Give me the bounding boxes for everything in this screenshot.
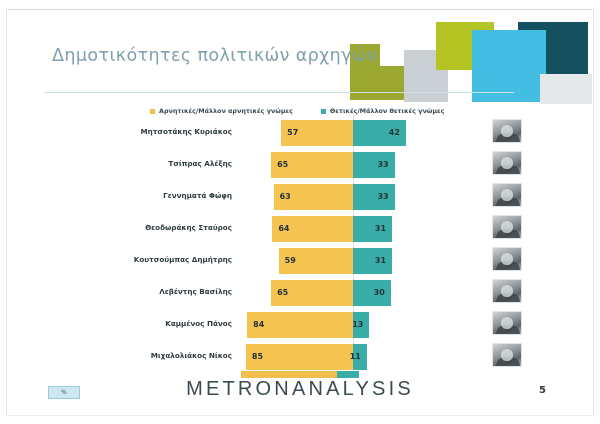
bar-value-positive: 31	[375, 257, 386, 265]
brand-logo: METRONANALYSIS	[0, 378, 600, 401]
bar-positive: 33	[353, 184, 395, 210]
bar-positive: 30	[353, 280, 391, 306]
bar-negative: 64	[272, 216, 353, 242]
chart-row: Μητσοτάκης Κυριάκος5742	[0, 117, 600, 149]
brand-logo-bars	[241, 371, 359, 378]
chart-row: Κουτσούμπας Δημήτρης5931	[0, 245, 600, 277]
leader-portrait	[492, 279, 522, 303]
leader-portrait	[492, 151, 522, 175]
title-divider	[44, 92, 514, 93]
bar-negative: 65	[271, 280, 353, 306]
bar-positive: 42	[353, 120, 406, 146]
chart-row-label: Γεννηματά Φώφη	[56, 191, 232, 200]
bar-value-negative: 84	[253, 321, 264, 329]
leader-portrait	[492, 119, 522, 143]
chart-row-label: Μητσοτάκης Κυριάκος	[56, 127, 232, 136]
brand-logo-bar-yellow	[241, 371, 337, 378]
bar-positive: 33	[353, 152, 395, 178]
chart-row: Λεβέντης Βασίλης6530	[0, 277, 600, 309]
chart-row: Καμμένος Πάνος8413	[0, 309, 600, 341]
bar-negative: 85	[246, 344, 353, 370]
bar-value-positive: 31	[375, 225, 386, 233]
chart-row-label: Θεοδωράκης Σταύρος	[56, 223, 232, 232]
chart-row: Γεννηματά Φώφη6333	[0, 181, 600, 213]
leader-portrait	[492, 183, 522, 207]
leader-portrait	[492, 247, 522, 271]
bar-value-negative: 64	[278, 225, 289, 233]
bar-value-positive: 33	[377, 161, 388, 169]
leader-portrait	[492, 215, 522, 239]
legend-swatch-negative-icon	[150, 109, 155, 114]
chart-row: Τσίπρας Αλέξης6533	[0, 149, 600, 181]
bar-value-positive: 11	[350, 353, 361, 361]
bar-value-negative: 85	[252, 353, 263, 361]
bar-value-positive: 42	[389, 129, 400, 137]
chart-row-label: Κουτσούμπας Δημήτρης	[56, 255, 232, 264]
legend-swatch-positive-icon	[321, 109, 326, 114]
legend-item-positive: Θετικές/Μάλλον θετικές γνώμες	[321, 107, 445, 115]
bar-positive: 13	[353, 312, 369, 338]
bar-positive: 31	[353, 248, 392, 274]
chart-row-label: Καμμένος Πάνος	[56, 319, 232, 328]
bar-value-positive: 13	[352, 321, 363, 329]
bar-negative: 59	[279, 248, 353, 274]
legend-label-positive: Θετικές/Μάλλον θετικές γνώμες	[330, 107, 445, 115]
bar-negative: 63	[274, 184, 353, 210]
bar-negative: 57	[281, 120, 353, 146]
brand-logo-bar-teal	[337, 371, 359, 378]
bar-positive: 31	[353, 216, 392, 242]
deco-square-grey-right	[540, 74, 592, 104]
legend-item-negative: Αρνητικές/Μάλλον αρνητικές γνώμες	[150, 107, 293, 115]
bar-positive: 11	[353, 344, 367, 370]
chart-row-label: Τσίπρας Αλέξης	[56, 159, 232, 168]
brand-logo-text: METRONANALYSIS	[0, 378, 600, 401]
legend-label-negative: Αρνητικές/Μάλλον αρνητικές γνώμες	[159, 107, 293, 115]
diverging-bar-chart: Μητσοτάκης Κυριάκος5742Τσίπρας Αλέξης653…	[0, 115, 600, 373]
bar-value-negative: 57	[287, 129, 298, 137]
bar-value-negative: 59	[285, 257, 296, 265]
bar-negative: 65	[271, 152, 353, 178]
leader-portrait	[492, 343, 522, 367]
leader-portrait	[492, 311, 522, 335]
bar-value-positive: 30	[374, 289, 385, 297]
page-title: Δημοτικότητες πολιτικών αρχηγών	[52, 46, 377, 66]
page-edge-bottom	[6, 415, 594, 416]
slide-canvas: Δημοτικότητες πολιτικών αρχηγών Αρνητικέ…	[0, 0, 600, 424]
bar-negative: 84	[247, 312, 353, 338]
page-number: 5	[539, 385, 546, 396]
bar-value-negative: 63	[280, 193, 291, 201]
chart-row: Μιχαλολιάκος Νίκος8511	[0, 341, 600, 373]
chart-row-label: Μιχαλολιάκος Νίκος	[56, 351, 232, 360]
chart-row: Θεοδωράκης Σταύρος6431	[0, 213, 600, 245]
bar-value-positive: 33	[377, 193, 388, 201]
chart-row-label: Λεβέντης Βασίλης	[56, 287, 232, 296]
bar-value-negative: 65	[277, 161, 288, 169]
bar-value-negative: 65	[277, 289, 288, 297]
